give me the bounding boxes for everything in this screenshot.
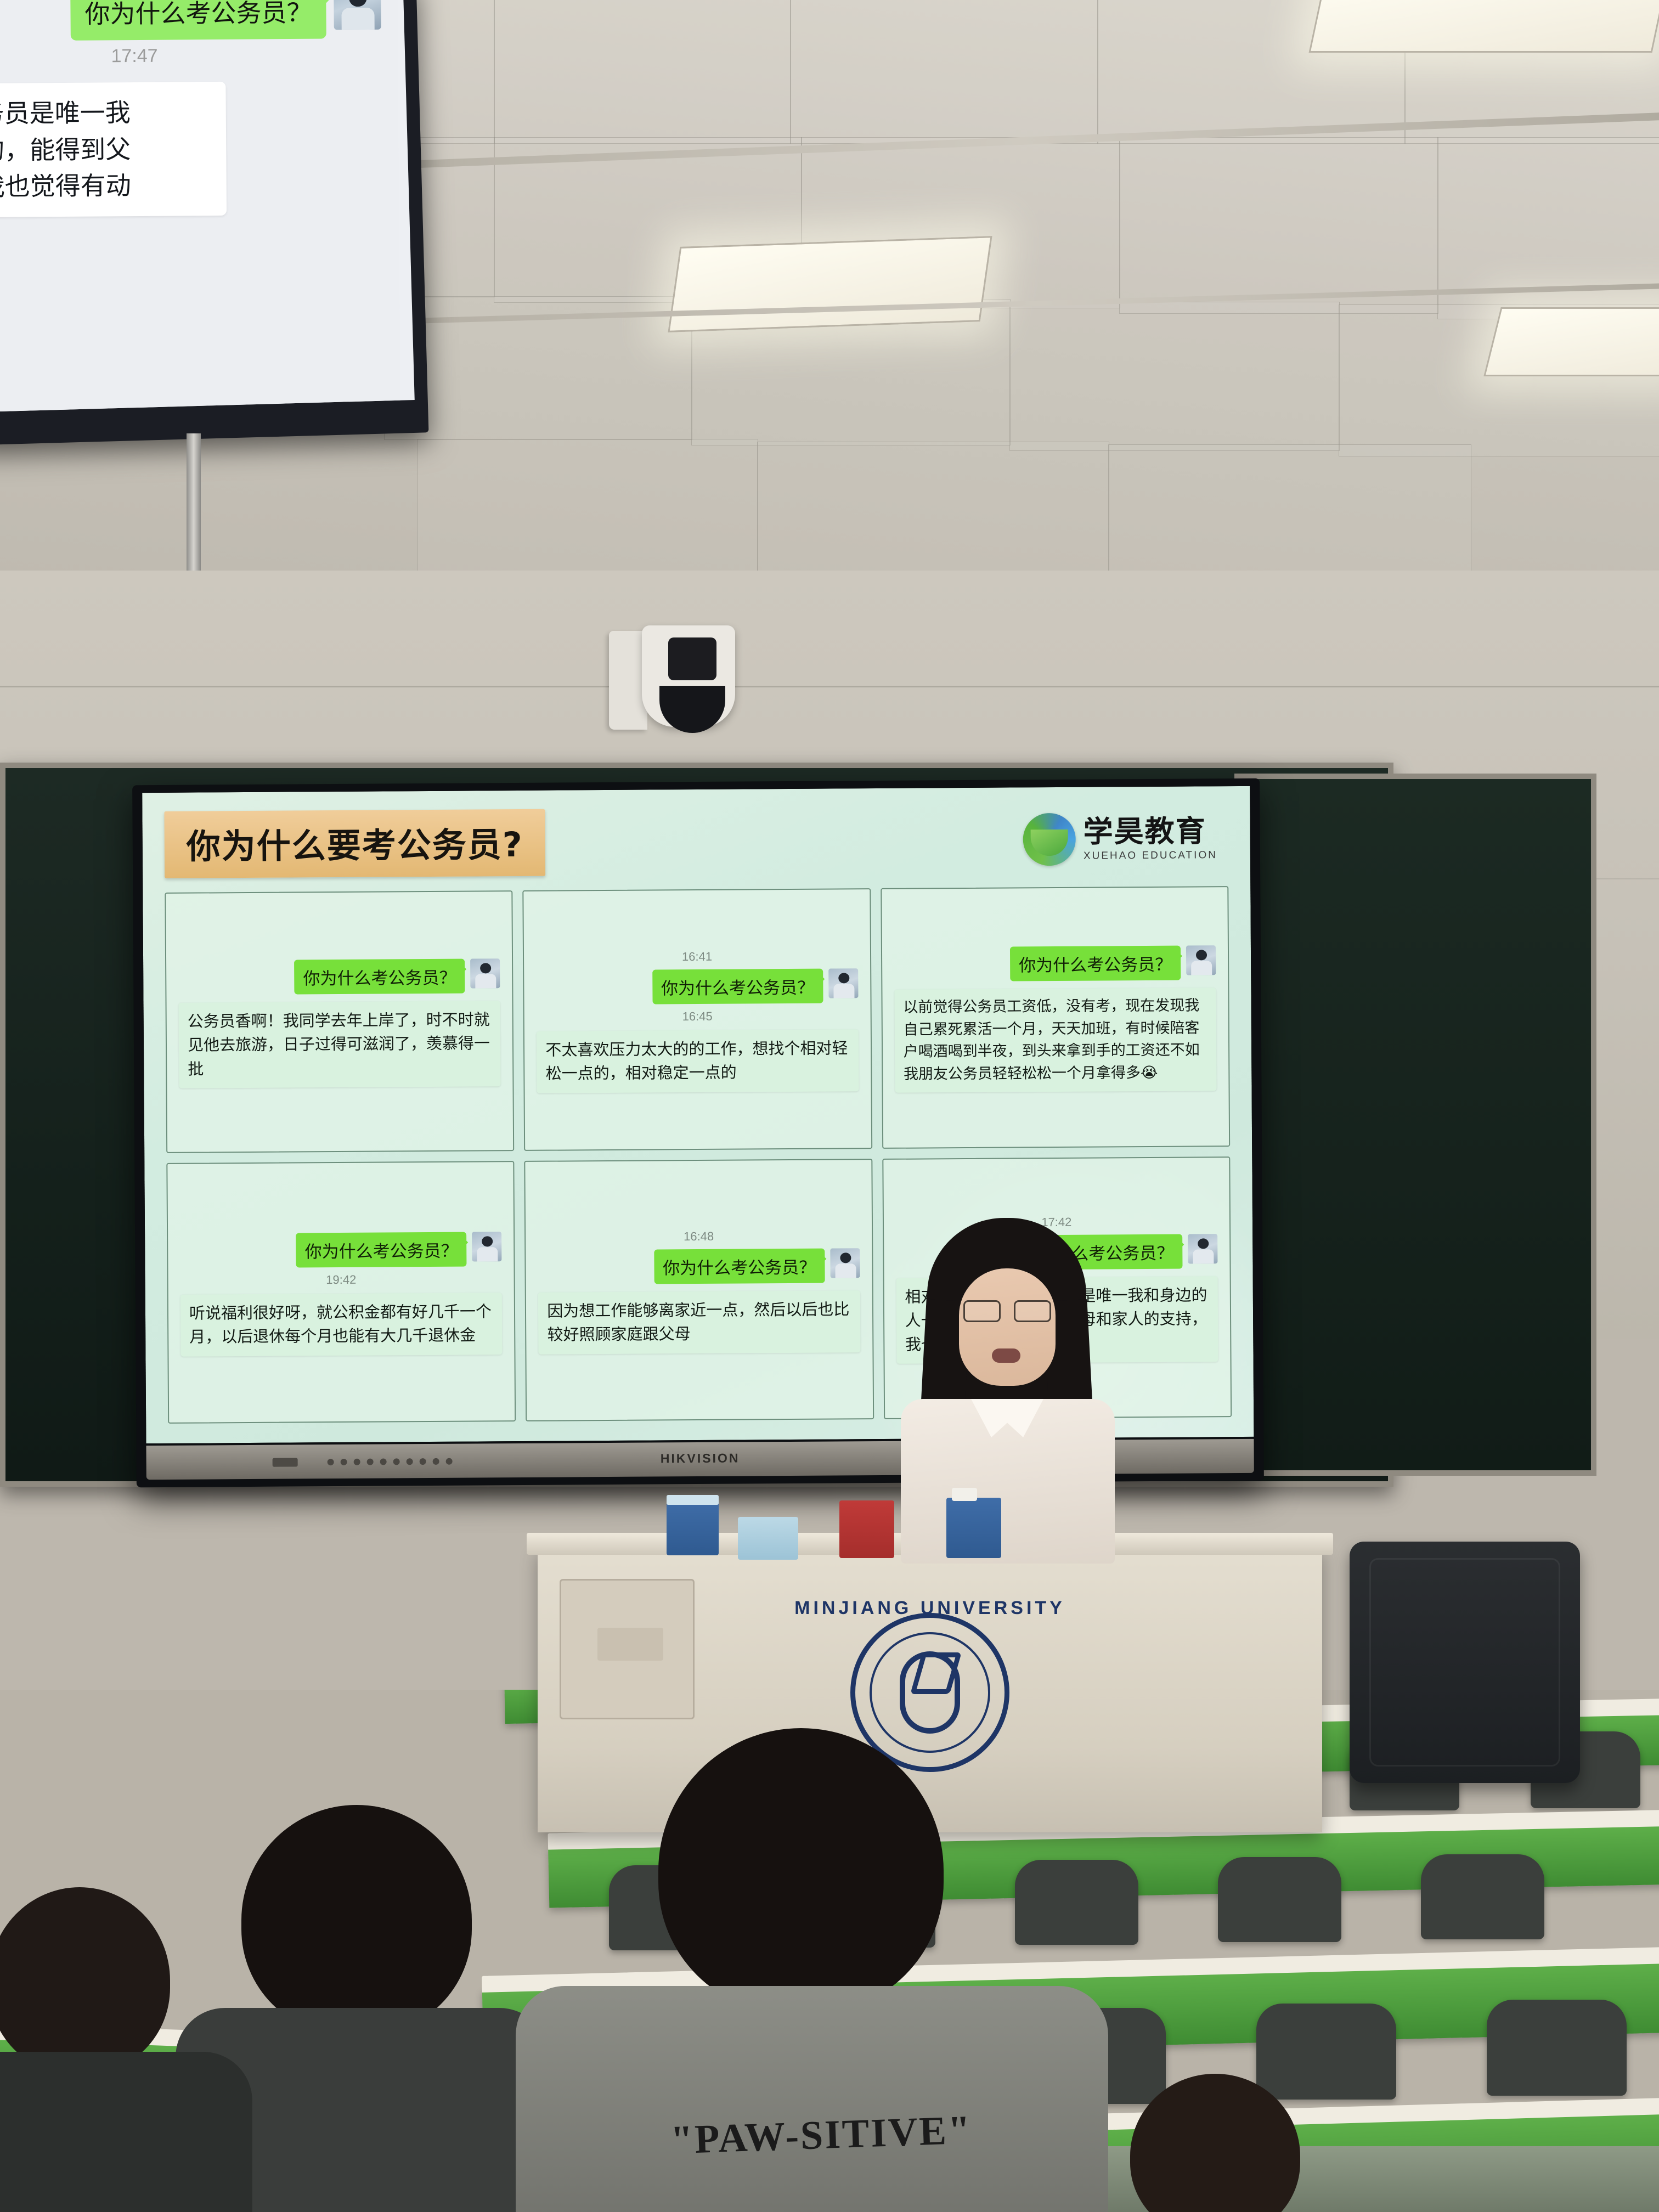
- avatar: [470, 958, 500, 988]
- chat-timestamp: 16:45: [537, 1008, 858, 1025]
- chat-card: 你为什么考公务员？ 公务员香啊！我同学去年上岸了，时不时就见他去旅游，日子过得可…: [165, 890, 514, 1153]
- ceiling-light: [668, 236, 992, 332]
- desk-box: [738, 1517, 798, 1560]
- display-power-button[interactable]: [273, 1458, 298, 1466]
- chat-answer-bubble: 择，公务员是唯一我 致认可的，能得到父 支持，我也觉得有动: [0, 82, 227, 218]
- chat-timestamp: 17:47: [0, 44, 381, 69]
- chat-answer-bubble: 以前觉得公务员工资低，没有考，现在发现我自己累死累活一个月，天天加班，有时候陪客…: [894, 988, 1216, 1093]
- chat-question-bubble: 你为什么考公务员？: [654, 1248, 825, 1284]
- avatar: [472, 1232, 501, 1261]
- secondary-monitor: 你为什么考公务员？ 17:47 择，公务员是唯一我 致认可的，能得到父 支持，我…: [0, 0, 428, 445]
- security-camera-icon: [609, 625, 757, 735]
- leaf-globe-icon: [1023, 813, 1076, 866]
- seat: [1218, 1857, 1341, 1942]
- ceiling-light: [1483, 307, 1659, 376]
- chat-timestamp: 19:42: [180, 1272, 502, 1288]
- display-brand-label: HIKVISION: [661, 1451, 740, 1466]
- brand-name-en: XUEHAO EDUCATION: [1084, 850, 1217, 861]
- blackboard-right: [1234, 774, 1596, 1476]
- chat-question-bubble: 你为什么考公务员？: [296, 1232, 466, 1267]
- chat-timestamp: 16:48: [538, 1228, 859, 1245]
- camera-lens-icon: [668, 637, 716, 680]
- ceiling-light: [1309, 0, 1659, 53]
- seat: [1487, 2000, 1627, 2096]
- avatar: [1186, 945, 1216, 975]
- audience-member: [0, 1876, 230, 2212]
- avatar: [334, 0, 381, 30]
- glasses-icon: [963, 1300, 1051, 1319]
- lecture-hall-photo: 你为什么考公务员？ 17:47 择，公务员是唯一我 致认可的，能得到父 支持，我…: [0, 0, 1659, 2212]
- presenter: [872, 1218, 1136, 1558]
- chat-card: 16:41 你为什么考公务员？ 16:45 不太喜欢压力太大的的工作，想找个相对…: [523, 888, 872, 1151]
- chat-answer-bubble: 公务员香啊！我同学去年上岸了，时不时就见他去旅游，日子过得可滋润了，羡慕得一批: [179, 1001, 501, 1088]
- brand-name-cn: 学昊教育: [1083, 816, 1217, 847]
- avatar: [830, 1248, 860, 1278]
- office-chair: [1350, 1542, 1580, 1783]
- audience-member: "PAW-SITIVE": [576, 1728, 1048, 2212]
- desk-cup: [839, 1500, 894, 1558]
- secondary-monitor-screen: 你为什么考公务员？ 17:47 择，公务员是唯一我 致认可的，能得到父 支持，我…: [0, 0, 415, 412]
- chat-answer-bubble: 不太喜欢压力太大的的工作，想找个相对轻松一点的，相对稳定一点的: [537, 1029, 859, 1093]
- chat-timestamp: 16:41: [536, 949, 857, 965]
- chat-card: 你为什么考公务员？ 以前觉得公务员工资低，没有考，现在发现我自己累死累活一个月，…: [881, 886, 1230, 1149]
- avatar: [1188, 1234, 1217, 1263]
- chat-card: 你为什么考公务员？ 19:42 听说福利很好呀，就公积金都有好几千一个月，以后退…: [166, 1161, 516, 1424]
- chat-question-bubble: 你为什么考公务员？: [70, 0, 326, 41]
- display-speaker-grille: [328, 1458, 453, 1465]
- slide-header: 你为什么要考公务员? 学昊教育 XUEHAO EDUCATION: [164, 805, 1228, 878]
- chat-answer-bubble: 听说福利很好呀，就公积金都有好几千一个月，以后退休每个月也能有大几千退休金: [180, 1293, 503, 1357]
- chat-question-bubble: 你为什么考公务员？: [294, 958, 465, 994]
- chat-answer-bubble: 因为想工作能够离家近一点，然后以后也比较好照顾家庭跟父母: [538, 1290, 860, 1355]
- chat-card: 16:48 你为什么考公务员？ 因为想工作能够离家近一点，然后以后也比较好照顾家…: [524, 1159, 874, 1421]
- lectern-control-panel[interactable]: [560, 1579, 695, 1719]
- slide-title: 你为什么要考公务员?: [164, 809, 545, 878]
- desk-cup: [667, 1500, 719, 1555]
- desk-cup: [946, 1498, 1001, 1558]
- audience-member: [208, 1805, 516, 2211]
- brand-logo: 学昊教育 XUEHAO EDUCATION: [1023, 812, 1228, 866]
- chat-question-bubble: 你为什么考公务员？: [652, 968, 823, 1004]
- chat-question-bubble: 你为什么考公务员？: [1010, 946, 1181, 981]
- avatar: [828, 968, 858, 998]
- seat: [1421, 1854, 1544, 1939]
- audience-member: [1064, 2074, 1372, 2212]
